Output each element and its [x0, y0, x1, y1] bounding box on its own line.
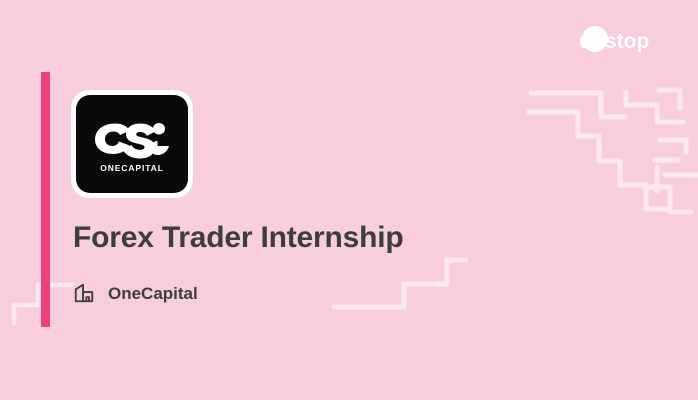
unstop-logo-text-stop: stop	[605, 30, 649, 53]
deco-right-step-b	[659, 90, 680, 108]
onecapital-wordmark: ONECAPITAL	[100, 164, 164, 173]
building-icon	[73, 282, 95, 304]
page-title: Forex Trader Internship	[73, 220, 403, 256]
company-logo-tile: ONECAPITAL	[71, 90, 193, 198]
onecapital-monogram-icon	[93, 119, 171, 159]
accent-bar	[41, 72, 50, 327]
deco-right-step-d	[650, 187, 691, 212]
deco-center-step	[334, 260, 466, 307]
deco-left-step-lower	[14, 305, 38, 323]
unstop-logo[interactable]: un stop	[579, 26, 675, 54]
decorative-stair-lines	[0, 0, 698, 400]
deco-top-line-a	[531, 93, 625, 117]
job-banner: un stop ONECAPITAL Forex Trader Internsh…	[0, 0, 698, 400]
deco-right-step-a	[626, 92, 683, 122]
unstop-logo-text-un: un	[579, 30, 605, 53]
deco-right-step-c	[660, 140, 686, 152]
deco-top-line-b	[529, 112, 668, 209]
company-name: OneCapital	[108, 285, 198, 302]
company-row[interactable]: OneCapital	[73, 282, 198, 304]
